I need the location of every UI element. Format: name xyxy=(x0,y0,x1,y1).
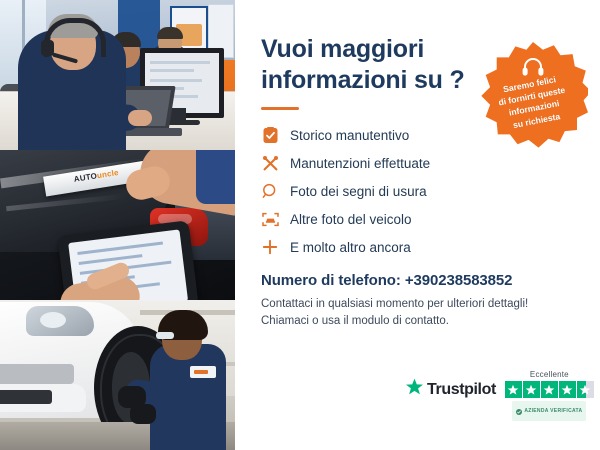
starburst-badge: Saremo felici di fornirti queste informa… xyxy=(478,42,588,152)
vehicle-inspection-photo: AUTOuncle xyxy=(0,150,235,300)
contact-subtext-line-2: Chiamaci o usa il modulo di contatto. xyxy=(261,313,590,330)
phone-number-heading[interactable]: Numero di telefono: +390238583852 xyxy=(261,272,590,289)
star-icon xyxy=(405,378,424,401)
feature-item-molto-altro-ancora: E molto altro ancora xyxy=(261,238,590,256)
call-center-agents-photo xyxy=(0,0,235,150)
verified-check-icon xyxy=(516,402,522,420)
trustpilot-logo: Trustpilot xyxy=(405,378,496,401)
star-icon xyxy=(559,381,576,398)
clipboard-check-icon xyxy=(261,126,279,144)
star-icon xyxy=(577,381,594,398)
tools-cross-icon xyxy=(261,154,279,172)
trustpilot-rating: Eccellente AZIENDA VERIFICATA xyxy=(505,370,594,421)
feature-label: Storico manutentivo xyxy=(290,128,409,143)
search-magnifier-icon xyxy=(261,182,279,200)
feature-item-foto-segni-usura: Foto dei segni di usura xyxy=(261,182,590,200)
verified-business-badge: AZIENDA VERIFICATA xyxy=(512,401,586,421)
feature-item-manutenzioni-effettuate: Manutenzioni effettuate xyxy=(261,154,590,172)
feature-label: E molto altro ancora xyxy=(290,240,411,255)
contact-subtext-line-1: Contattaci in qualsiasi momento per ulte… xyxy=(261,296,590,313)
star-icon xyxy=(505,381,522,398)
verified-business-label: AZIENDA VERIFICATA xyxy=(524,408,582,414)
trustpilot-rating-label: Eccellente xyxy=(530,370,569,379)
promo-banner: AUTOuncle xyxy=(0,0,600,450)
mechanic-wheel-photo xyxy=(0,300,235,450)
feature-label: Altre foto del veicolo xyxy=(290,212,412,227)
page-title: Vuoi maggiori informazioni su ? xyxy=(261,0,476,95)
title-underline-rule xyxy=(261,107,299,110)
star-icon xyxy=(523,381,540,398)
feature-label: Foto dei segni di usura xyxy=(290,184,427,199)
photo-column: AUTOuncle xyxy=(0,0,235,450)
trustpilot-widget[interactable]: Trustpilot Eccellente AZIENDA VERIFICATA xyxy=(405,370,594,421)
trustpilot-star-row xyxy=(505,381,594,398)
star-icon xyxy=(541,381,558,398)
car-frame-icon xyxy=(261,210,279,228)
feature-item-altre-foto-veicolo: Altre foto del veicolo xyxy=(261,210,590,228)
plus-icon xyxy=(261,238,279,256)
feature-label: Manutenzioni effettuate xyxy=(290,156,430,171)
contact-subtext: Contattaci in qualsiasi momento per ulte… xyxy=(261,296,590,329)
trustpilot-brand-name: Trustpilot xyxy=(427,381,496,399)
content-panel: Vuoi maggiori informazioni su ? Storico … xyxy=(235,0,600,450)
